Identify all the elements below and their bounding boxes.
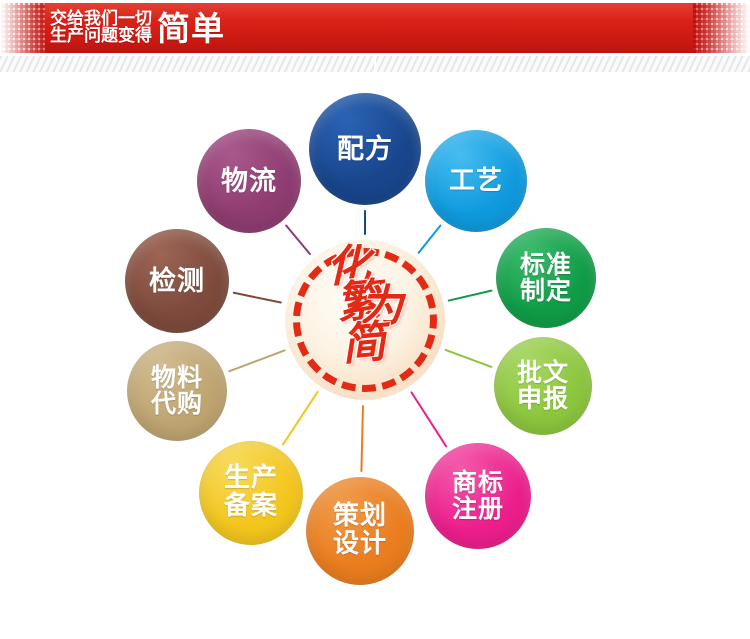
center-char-4: 简 — [340, 325, 385, 365]
bubble-approval-filing[interactable]: 批文申报 — [494, 337, 592, 435]
bubble-label-line: 代购 — [151, 391, 203, 418]
bubble-inspection[interactable]: 检测 — [125, 229, 229, 333]
connector-line-approval-filing — [446, 350, 492, 367]
header-banner: 交给我们一切 生产问题变得 简单 — [0, 0, 750, 56]
bubble-label-line: 备案 — [224, 493, 278, 521]
striped-divider-seam — [374, 56, 376, 73]
bubble-trademark-registration[interactable]: 商标注册 — [425, 443, 531, 549]
banner-headline: 简单 — [157, 12, 225, 45]
bubble-label-line: 申报 — [517, 386, 569, 413]
banner-text-group: 交给我们一切 生产问题变得 简单 — [50, 4, 225, 52]
connector-line-inspection — [234, 293, 281, 303]
bubble-label-line: 设计 — [333, 531, 387, 559]
bubble-standard-setting[interactable]: 标准制定 — [496, 228, 596, 328]
bubble-process[interactable]: 工艺 — [425, 130, 527, 232]
bubble-label-line: 生产 — [224, 465, 278, 493]
bubble-production-filing[interactable]: 生产备案 — [199, 441, 303, 545]
bubble-label-line: 物料 — [151, 365, 203, 392]
bubble-logistics[interactable]: 物流 — [197, 129, 301, 233]
bubble-label-line: 配方 — [337, 136, 393, 163]
connector-line-production-filing — [283, 392, 318, 445]
infographic-page: 交给我们一切 生产问题变得 简单 化 繁 为 简 配方工艺标准制定批文申报商标注… — [0, 0, 750, 639]
bubble-label-line: 物流 — [221, 168, 277, 195]
bubble-material-purchasing[interactable]: 物料代购 — [127, 341, 227, 441]
connector-line-material-purchasing — [229, 350, 284, 371]
connector-line-trademark-registration — [411, 392, 446, 446]
connector-line-planning-design — [361, 406, 363, 471]
bubble-label-line: 批文 — [517, 360, 569, 387]
bubble-label-line: 检测 — [149, 268, 205, 295]
bubble-label-line: 策划 — [333, 503, 387, 531]
connector-line-logistics — [286, 226, 310, 254]
bubble-planning-design[interactable]: 策划设计 — [306, 477, 414, 585]
bubble-label-line: 制定 — [520, 278, 572, 305]
banner-left-pixel-fade — [0, 3, 48, 53]
center-emblem: 化 繁 为 简 — [285, 240, 445, 400]
banner-subtitle: 交给我们一切 生产问题变得 — [50, 11, 152, 46]
bubble-label-line: 标准 — [520, 252, 572, 279]
connector-line-standard-setting — [449, 291, 492, 301]
connector-line-process — [419, 226, 441, 253]
radial-diagram: 化 繁 为 简 配方工艺标准制定批文申报商标注册策划设计生产备案物料代购检测物流 — [0, 73, 750, 639]
bubble-label-line: 工艺 — [449, 168, 503, 194]
bubble-formula[interactable]: 配方 — [309, 93, 421, 205]
banner-subtitle-line-2: 生产问题变得 — [50, 28, 152, 46]
bubble-label-line: 商标 — [452, 470, 504, 497]
bubble-label-line: 注册 — [452, 496, 504, 523]
banner-right-pixel-fade — [693, 3, 750, 53]
